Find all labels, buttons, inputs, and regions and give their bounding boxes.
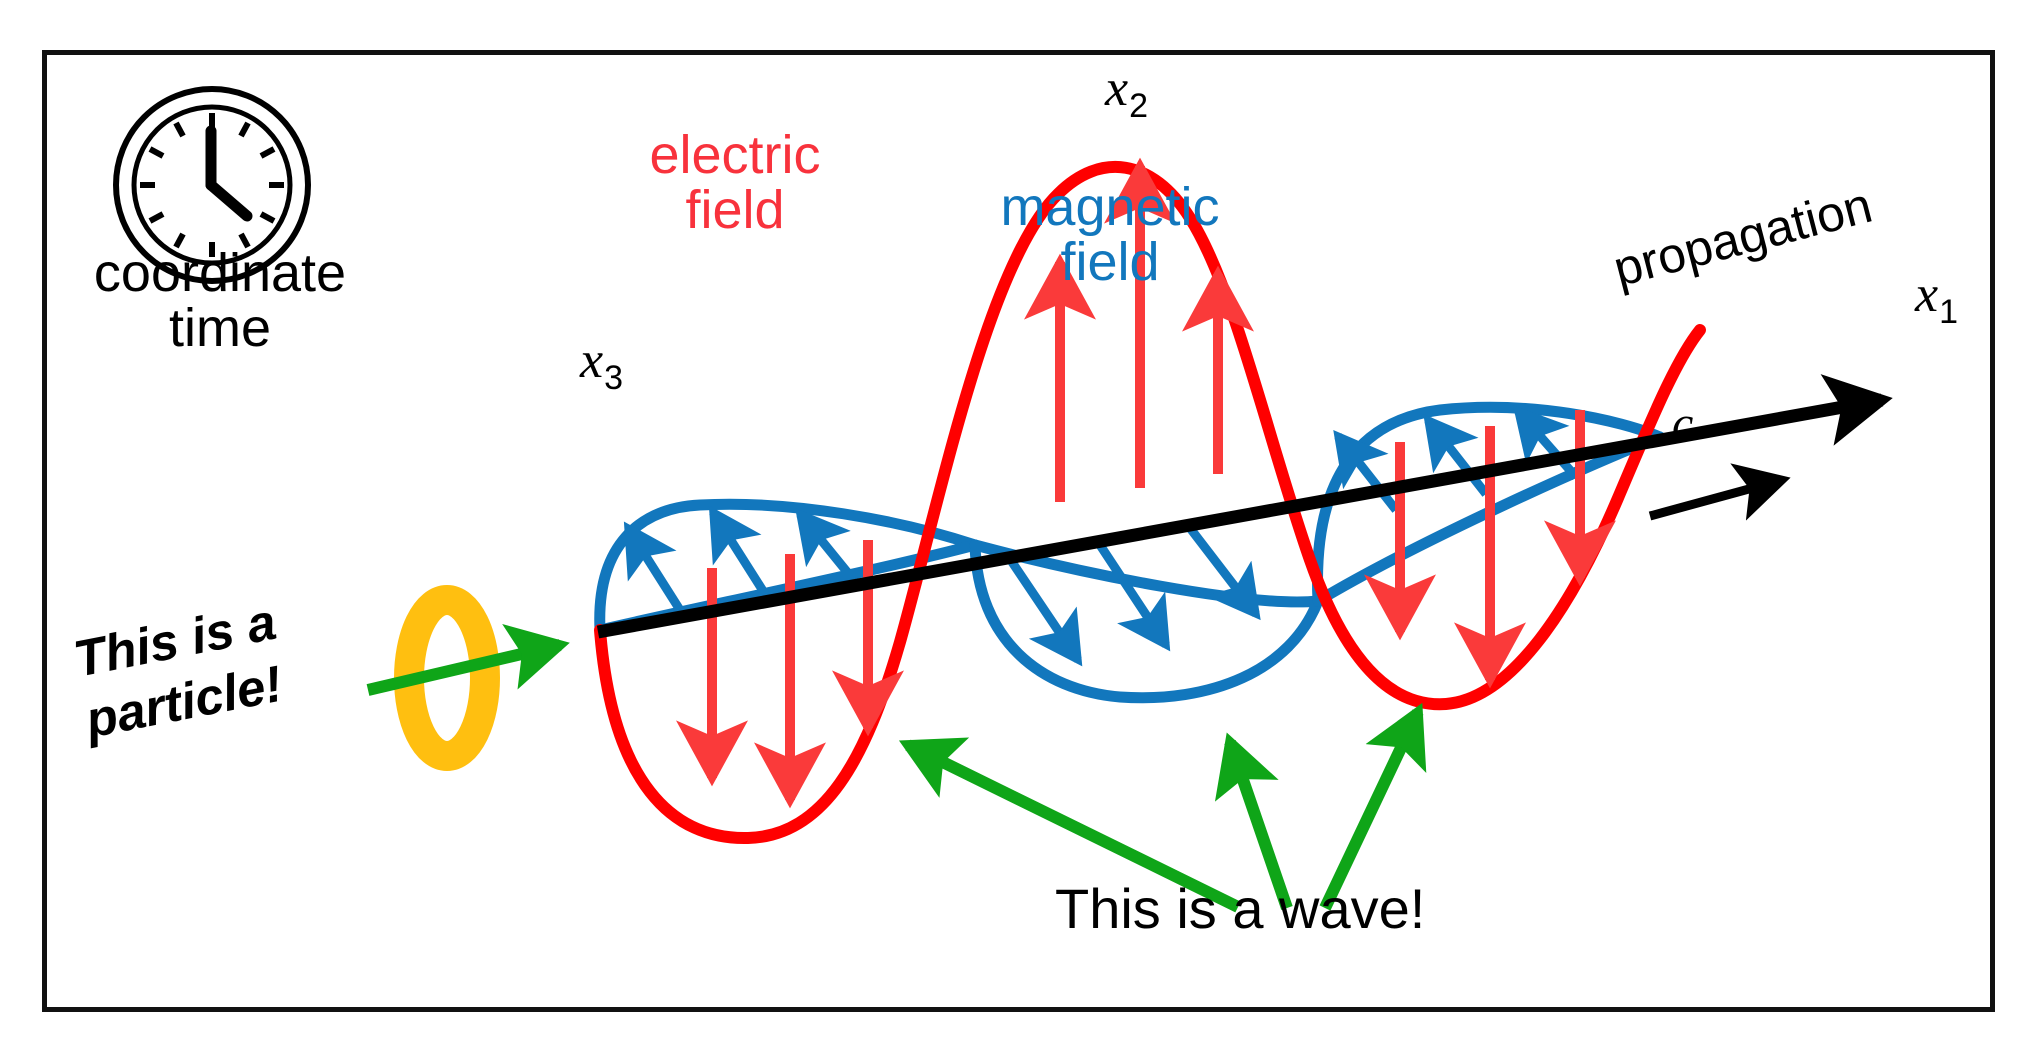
axis-x3-base: x xyxy=(580,332,603,389)
axis-x1-subscript: 1 xyxy=(1938,293,1958,331)
electric-field-line1: electric xyxy=(590,128,880,183)
speed-of-light-label: c xyxy=(1672,400,1693,449)
axis-label-x3: x3 xyxy=(580,334,623,395)
axis-x2-base: x xyxy=(1105,60,1128,117)
magnetic-field-wave xyxy=(600,407,1660,697)
magnetic-field-line2: field xyxy=(960,235,1260,290)
axis-label-x2: x2 xyxy=(1105,62,1148,123)
axis-x1-base: x xyxy=(1915,266,1938,323)
coordinate-time-label: coordinate time xyxy=(60,246,380,356)
diagram-canvas xyxy=(0,0,2040,1056)
speed-of-light-arrow-icon xyxy=(1650,480,1782,516)
coordinate-time-line1: coordinate xyxy=(60,246,380,301)
axis-x2-subscript: 2 xyxy=(1128,87,1148,125)
axis-label-x1: x1 xyxy=(1915,268,1958,329)
diagram-root: coordinate time This is a particle! elec… xyxy=(0,0,2040,1056)
coordinate-time-line2: time xyxy=(60,301,380,356)
electric-field-line2: field xyxy=(590,183,880,238)
magnetic-field-line1: magnetic xyxy=(960,180,1260,235)
magnetic-field-label: magnetic field xyxy=(960,180,1260,290)
this-is-a-wave-label: This is a wave! xyxy=(1055,880,1425,937)
axis-x3-subscript: 3 xyxy=(603,359,623,397)
electric-field-label: electric field xyxy=(590,128,880,238)
